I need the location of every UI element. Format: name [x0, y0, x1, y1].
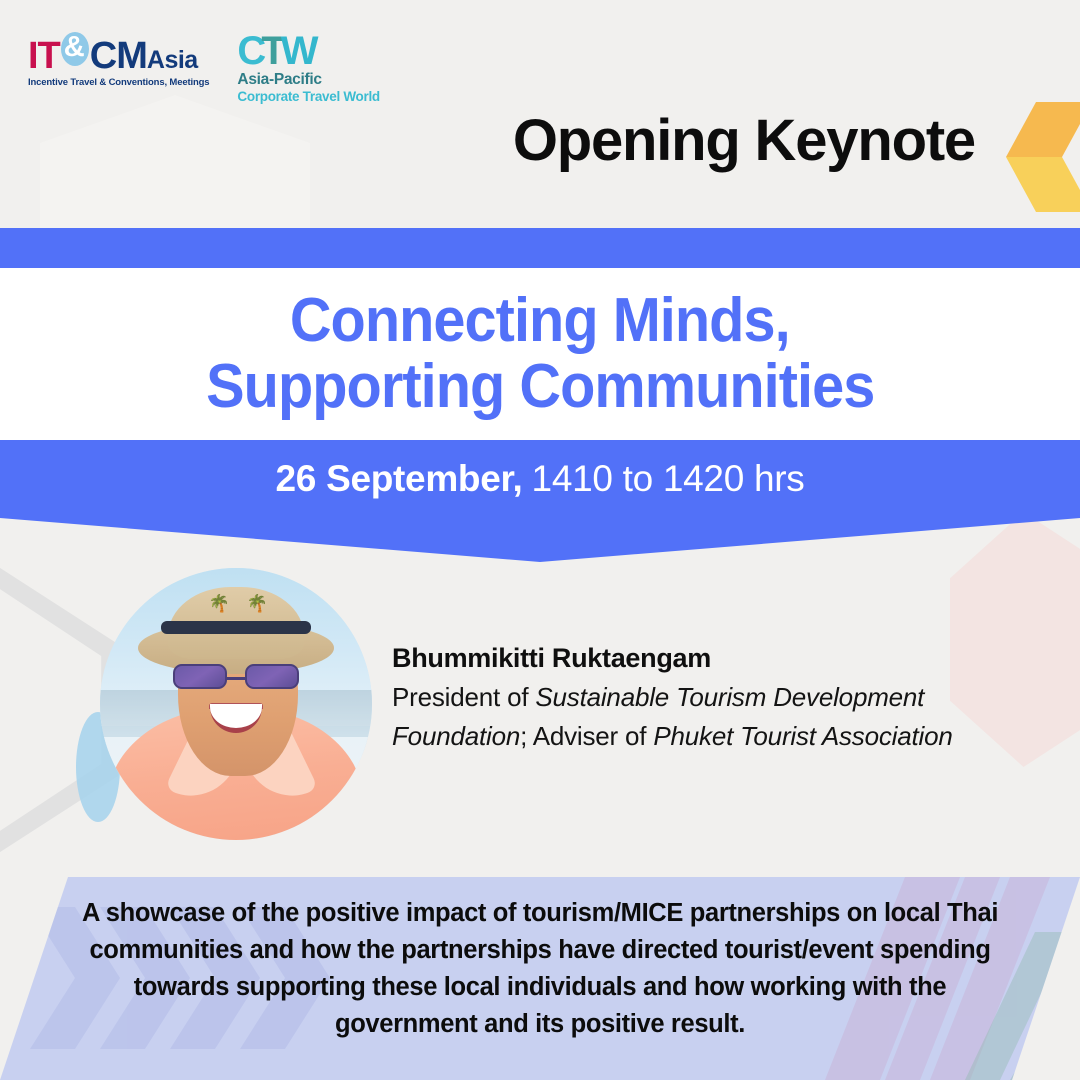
accent-rule-bar [0, 228, 1080, 268]
itcm-wordmark: IT & CM Asia [28, 30, 209, 75]
ctw-c-text: C [237, 32, 264, 70]
ctw-fullname-text: Corporate Travel World [237, 89, 379, 104]
chevron-left-icon [1006, 102, 1080, 212]
session-datetime: 26 September, 1410 to 1420 hrs [0, 440, 1080, 518]
hexagon-watermark-icon [40, 95, 310, 245]
itcm-asia-logo: IT & CM Asia Incentive Travel & Conventi… [28, 30, 209, 88]
session-time: 1410 to 1420 hrs [532, 458, 805, 500]
ctw-region-text: Asia-Pacific [237, 71, 379, 89]
keynote-poster: IT & CM Asia Incentive Travel & Conventi… [0, 0, 1080, 1080]
ctw-wordmark: C T W [237, 32, 379, 70]
palm-tree-icon: 🌴 [247, 595, 267, 615]
session-title-block: Connecting Minds, Supporting Communities [0, 268, 1080, 440]
description-text: A showcase of the positive impact of tou… [70, 895, 1010, 1043]
session-title-line-2: Supporting Communities [206, 354, 874, 420]
session-title-line-1: Connecting Minds, [290, 288, 790, 354]
itcm-asia-text: Asia [147, 48, 198, 73]
session-date: 26 September, [276, 458, 523, 500]
itcm-tagline: Incentive Travel & Conventions, Meetings [28, 77, 209, 88]
itcm-it-text: IT [28, 37, 60, 75]
itcm-amp-text: & [64, 33, 84, 62]
speaker-name: Bhummikitti Ruktaengam [392, 643, 1052, 674]
speaker-role-prefix: President of [392, 682, 535, 712]
itcm-cm-text: CM [90, 37, 147, 75]
speaker-role-middle: ; Adviser of [520, 721, 653, 751]
logo-group: IT & CM Asia Incentive Travel & Conventi… [28, 30, 380, 104]
itcm-ampersand-icon: & [60, 30, 90, 68]
page-title: Opening Keynote [513, 107, 975, 174]
ctw-logo: C T W Asia-Pacific Corporate Travel Worl… [237, 30, 379, 104]
palm-tree-icon: 🌴 [209, 595, 229, 615]
speaker-org-2: Phuket Tourist Association [653, 721, 952, 751]
speaker-role: President of Sustainable Tourism Develop… [392, 678, 1052, 756]
speaker-photo: 🌴 🌴 [100, 568, 372, 840]
ctw-w-text: W [281, 32, 317, 70]
speaker-info: Bhummikitti Ruktaengam President of Sust… [392, 643, 1052, 756]
